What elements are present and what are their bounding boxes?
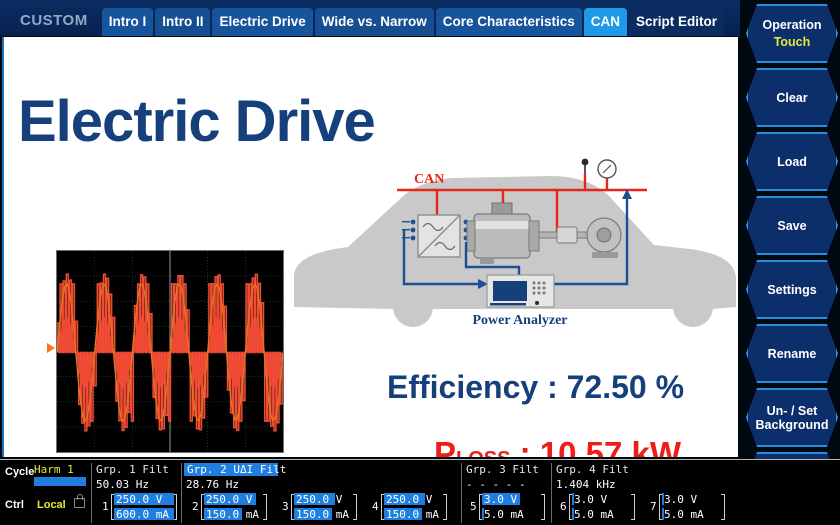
softkey-save[interactable]: Save (746, 196, 838, 255)
car-wheel-rear (393, 287, 433, 327)
control-status-block: Cycle Harm 1 Ctrl Local (2, 461, 90, 525)
status-group-title: Grp. 1 Filt (96, 463, 169, 476)
channel-voltage-row: 3.0 V (482, 493, 517, 506)
status-group-frequency: 1.404 kHz (556, 478, 616, 491)
status-group-title: Grp. 2 UΔI Filt (184, 463, 278, 476)
softkey-rename[interactable]: Rename (746, 324, 838, 383)
drive-shaft (539, 232, 557, 238)
motor-terminal-box (492, 203, 512, 214)
softkey-un-set[interactable]: Un- / SetBackground (746, 388, 838, 447)
motor-endbell-right (529, 221, 539, 251)
channel-bracket-right (356, 494, 357, 520)
efficiency-value: 72.50 % (567, 369, 684, 405)
trigger-level-marker (47, 343, 55, 353)
channel-bracket-right (544, 494, 545, 520)
softkey-clear[interactable]: Clear (746, 68, 838, 127)
sensor-head (582, 159, 589, 166)
channel-bracket-left (291, 494, 292, 520)
softkey-settings[interactable]: Settings (746, 260, 838, 319)
tab-intro-i[interactable]: Intro I (102, 8, 154, 36)
status-channel[interactable]: 73.0 V5.0 mA (650, 492, 728, 522)
channel-current-row: 5.0 mA (662, 508, 704, 521)
status-channel-number: 5 (470, 500, 477, 513)
softkey-label: Save (777, 219, 806, 233)
ploss-value: 10.57 kW (540, 435, 681, 457)
motor-highlight (474, 221, 530, 229)
page-title: Electric Drive (18, 93, 375, 151)
tab-bar: CUSTOM Intro IIntro IIElectric DriveWide… (0, 0, 740, 36)
channel-voltage-value: 250.0 V (294, 493, 342, 506)
ploss-separator: : (510, 435, 539, 457)
analyzer-strip (490, 303, 526, 306)
channel-current-value: 150.0 mA (204, 508, 259, 521)
channel-voltage-row: 3.0 V (662, 493, 697, 506)
dyno-hub (597, 228, 611, 242)
status-group-frequency: - - - - - (466, 478, 526, 491)
channel-voltage-value: 250.0 V (384, 493, 432, 506)
cycle-value[interactable]: Harm 1 (34, 463, 74, 476)
channel-bracket-left (479, 494, 480, 520)
channel-bracket-left (111, 494, 112, 520)
softkey-operation[interactable]: OperationTouch (746, 4, 838, 63)
status-channel-number: 2 (192, 500, 199, 513)
ploss-prefix: P (434, 435, 456, 457)
status-separator (461, 463, 462, 523)
channel-voltage-row: 250.0 V (204, 493, 252, 506)
channel-bracket-right (634, 494, 635, 520)
power-analyzer-label: Power Analyzer (473, 313, 568, 328)
softkey-label: Clear (776, 91, 807, 105)
status-channel[interactable]: 2250.0 V150.0 mA (192, 492, 270, 522)
status-separator (181, 463, 182, 523)
channel-current-row: 5.0 mA (572, 508, 614, 521)
status-channel-number: 1 (102, 500, 109, 513)
channel-bracket-right (176, 494, 177, 520)
channel-current-value: 5.0 mA (482, 508, 524, 521)
status-channel-number: 4 (372, 500, 379, 513)
channel-bracket-right (266, 494, 267, 520)
custom-label: CUSTOM (8, 13, 102, 36)
scope-waveform (57, 251, 283, 452)
dyno-base (592, 252, 618, 258)
channel-bracket-right (446, 494, 447, 520)
softkey-sublabel: Touch (774, 35, 811, 49)
status-channel-number: 7 (650, 500, 657, 513)
motor-body (474, 214, 530, 258)
status-channel[interactable]: 53.0 V5.0 mA (470, 492, 548, 522)
channel-voltage-value: 250.0 V (204, 493, 252, 506)
tab-electric-drive[interactable]: Electric Drive (212, 8, 312, 36)
status-separator (551, 463, 552, 523)
power-loss-readout: PLOSS : 10.57 kW (434, 435, 681, 457)
channel-bracket-right (724, 494, 725, 520)
status-group-title: Grp. 3 Filt (466, 463, 539, 476)
analyzer-power-led (535, 301, 539, 305)
status-channel-number: 3 (282, 500, 289, 513)
tab-script-editor[interactable]: Script Editor (629, 8, 724, 36)
electric-drive-diagram: CAN (282, 147, 738, 357)
status-channel-number: 6 (560, 500, 567, 513)
cycle-bar (34, 477, 86, 486)
efficiency-label: Efficiency : (387, 369, 567, 405)
lock-icon[interactable] (74, 498, 85, 508)
channel-bracket-left (381, 494, 382, 520)
channel-current-value: 5.0 mA (572, 508, 614, 521)
scope-screen (56, 250, 284, 453)
efficiency-readout: Efficiency : 72.50 % (387, 369, 684, 406)
car-wheel-front (673, 287, 713, 327)
channel-current-row: 5.0 mA (482, 508, 524, 521)
ctrl-label: Ctrl (5, 499, 24, 511)
cycle-label: Cycle (5, 466, 34, 478)
softkey-label-line2: Background (756, 418, 829, 432)
channel-voltage-value: 3.0 V (662, 493, 697, 506)
softkey-label: Rename (768, 347, 817, 361)
status-group-title: Grp. 4 Filt (556, 463, 629, 476)
channel-voltage-row: 250.0 V (384, 493, 432, 506)
analyzer-keypad (533, 282, 546, 295)
tab-can[interactable]: CAN (584, 8, 627, 36)
coupling (557, 227, 577, 243)
ctrl-value[interactable]: Local (37, 499, 66, 511)
status-channel[interactable]: 1250.0 V600.0 mA (102, 492, 180, 522)
softkey-label: Operation (762, 18, 821, 32)
channel-bracket-left (659, 494, 660, 520)
status-channel[interactable]: 63.0 V5.0 mA (560, 492, 638, 522)
status-channel[interactable]: 4250.0 V150.0 mA (372, 492, 450, 522)
channel-current-value: 600.0 mA (114, 508, 169, 521)
channel-voltage-value: 250.0 V (114, 493, 162, 506)
diagram-svg: CAN (282, 147, 738, 357)
analyzer-display (493, 281, 527, 301)
channel-current-row: 150.0 mA (294, 508, 349, 521)
ploss-subscript: LOSS (456, 448, 510, 457)
softkey-label: Settings (767, 283, 816, 297)
channel-bracket-left (201, 494, 202, 520)
channel-voltage-row: 250.0 V (114, 493, 162, 506)
channel-current-row: 150.0 mA (204, 508, 259, 521)
scope-plot[interactable] (56, 250, 284, 453)
status-channel[interactable]: 3250.0 V150.0 mA (282, 492, 360, 522)
motor-endbell-left (467, 221, 475, 251)
soft-key-sidebar: OperationTouchClearLoadSaveSettingsRenam… (742, 0, 840, 525)
motor-foot (480, 258, 494, 264)
softkey-label: Un- / Set (767, 404, 818, 418)
channel-voltage-row: 3.0 V (572, 493, 607, 506)
channel-current-row: 150.0 mA (384, 508, 439, 521)
softkey-label: Load (777, 155, 807, 169)
channel-voltage-value: 3.0 V (482, 493, 517, 506)
channel-voltage-value: 3.0 V (572, 493, 607, 506)
status-group-frequency: 50.03 Hz (96, 478, 149, 491)
channel-current-value: 150.0 mA (384, 508, 439, 521)
status-separator (91, 463, 92, 523)
status-bar: Cycle Harm 1 Ctrl Local Grp. 1 Filt50.03… (0, 459, 840, 525)
channel-current-value: 5.0 mA (662, 508, 704, 521)
channel-voltage-row: 250.0 V (294, 493, 342, 506)
status-group-frequency: 28.76 Hz (186, 478, 239, 491)
tab-intro-ii[interactable]: Intro II (155, 8, 210, 36)
tab-core-characteristics[interactable]: Core Characteristics (436, 8, 582, 36)
main-content-panel: Electric Drive CAN (2, 37, 738, 457)
channel-current-row: 600.0 mA (114, 508, 169, 521)
channel-current-value: 150.0 mA (294, 508, 349, 521)
can-bus-label: CAN (414, 172, 444, 187)
tab-wide-vs-narrow[interactable]: Wide vs. Narrow (315, 8, 434, 36)
channel-bracket-left (569, 494, 570, 520)
softkey-load[interactable]: Load (746, 132, 838, 191)
